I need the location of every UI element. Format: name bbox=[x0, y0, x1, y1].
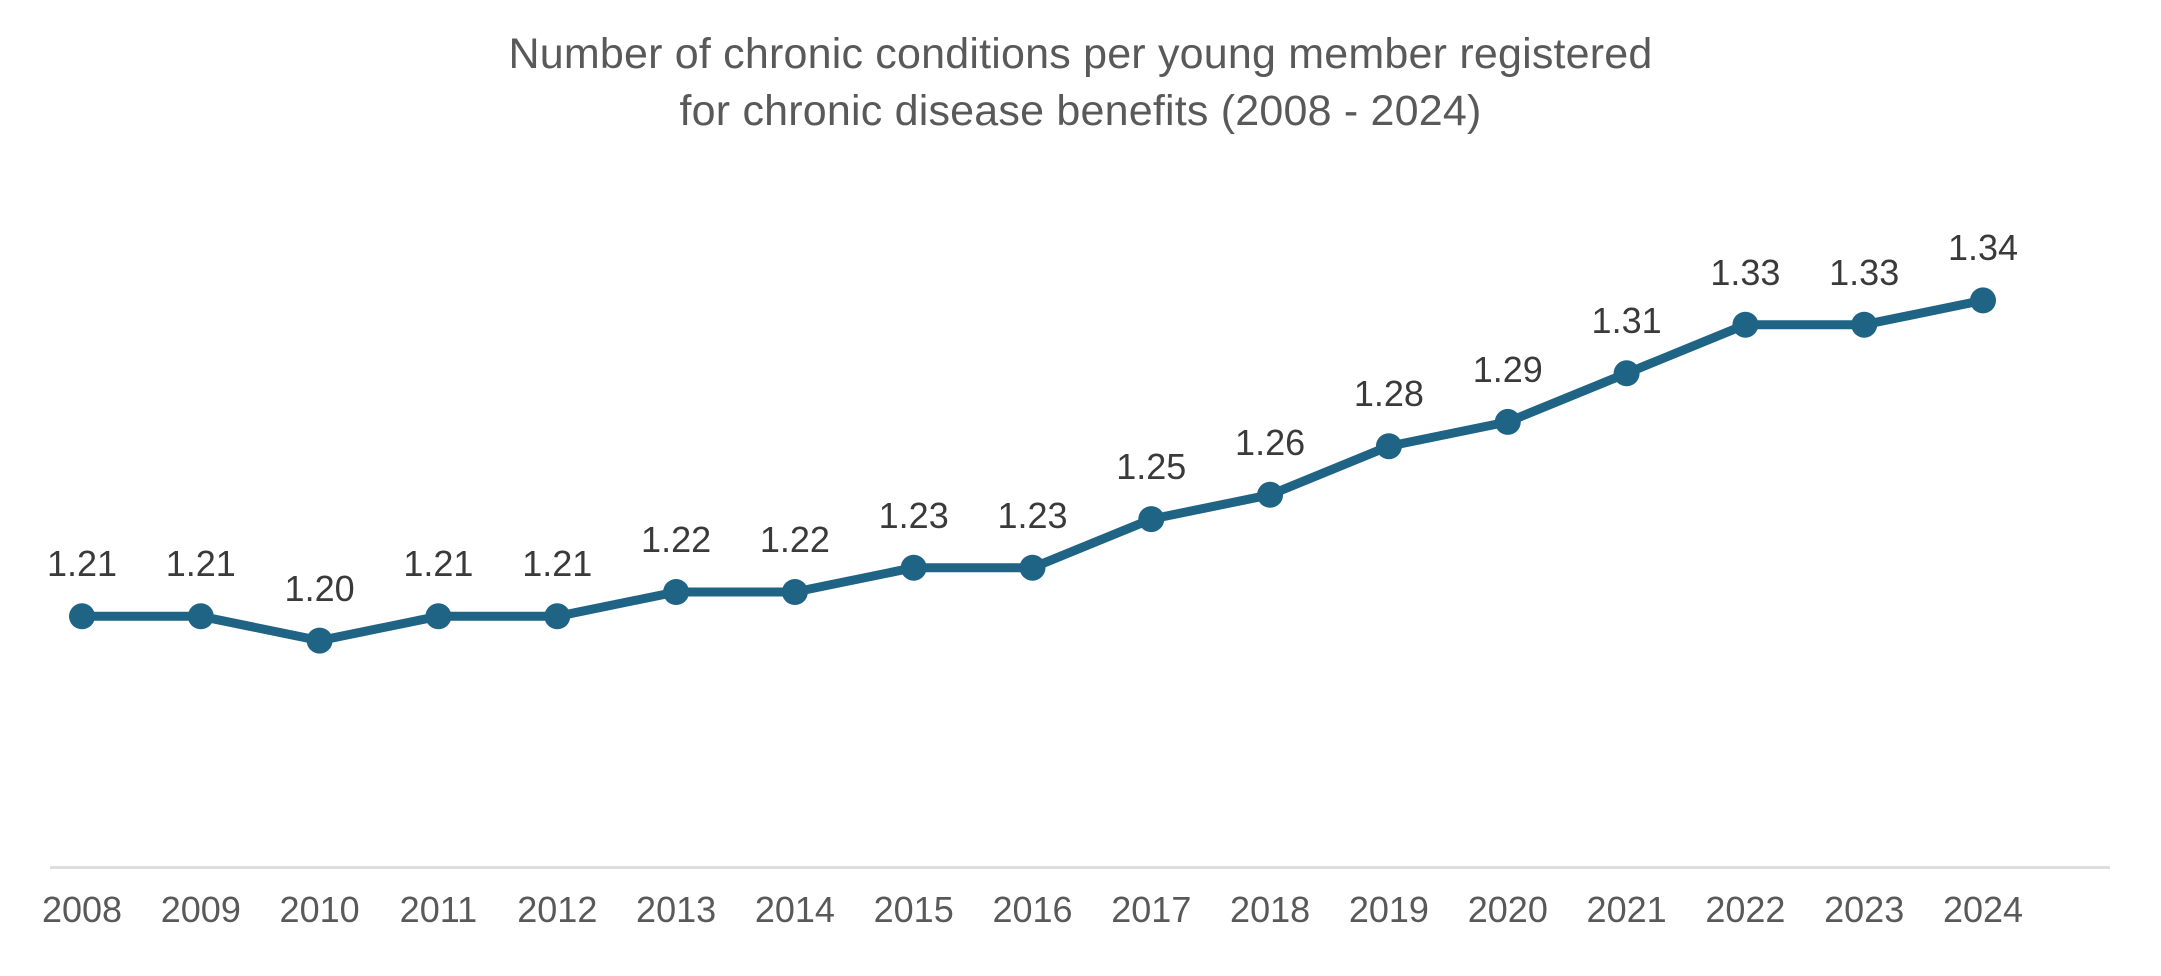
x-tick-label-2024: 2024 bbox=[1943, 888, 2023, 932]
data-point-label: 1.22 bbox=[760, 520, 830, 560]
x-tick-label-2013: 2013 bbox=[636, 888, 716, 932]
x-tick-label-2015: 2015 bbox=[874, 888, 954, 932]
data-point-label: 1.31 bbox=[1592, 301, 1662, 341]
data-point-label: 1.26 bbox=[1235, 423, 1305, 463]
x-tick-label-2023: 2023 bbox=[1824, 888, 1904, 932]
data-point-label: 1.28 bbox=[1354, 374, 1424, 414]
data-point-marker[interactable] bbox=[1376, 433, 1402, 459]
x-tick-label-2008: 2008 bbox=[42, 888, 122, 932]
plot-area: 1.211.211.201.211.211.221.221.231.231.25… bbox=[0, 0, 2161, 976]
x-tick-label-2012: 2012 bbox=[517, 888, 597, 932]
x-tick-label-2009: 2009 bbox=[161, 888, 241, 932]
x-tick-label-2011: 2011 bbox=[400, 888, 477, 932]
data-point-marker[interactable] bbox=[663, 579, 689, 605]
data-point-marker[interactable] bbox=[1614, 360, 1640, 386]
x-tick-label-2017: 2017 bbox=[1111, 888, 1191, 932]
data-point-label: 1.33 bbox=[1710, 253, 1780, 293]
x-tick-label-2010: 2010 bbox=[280, 888, 360, 932]
data-point-marker[interactable] bbox=[544, 603, 570, 629]
data-point-label: 1.21 bbox=[403, 544, 473, 584]
data-point-label: 1.29 bbox=[1473, 350, 1543, 390]
data-point-marker[interactable] bbox=[188, 603, 214, 629]
x-tick-label-2020: 2020 bbox=[1468, 888, 1548, 932]
x-tick-label-2022: 2022 bbox=[1705, 888, 1785, 932]
line-chart-svg bbox=[0, 0, 2161, 976]
data-point-marker[interactable] bbox=[782, 579, 808, 605]
data-point-label: 1.20 bbox=[285, 569, 355, 609]
series-line bbox=[82, 300, 1983, 640]
data-point-label: 1.21 bbox=[166, 544, 236, 584]
data-point-marker[interactable] bbox=[1495, 409, 1521, 435]
data-point-label: 1.34 bbox=[1948, 228, 2018, 268]
x-tick-label-2019: 2019 bbox=[1349, 888, 1429, 932]
data-point-marker[interactable] bbox=[1138, 506, 1164, 532]
data-point-label: 1.22 bbox=[641, 520, 711, 560]
data-point-marker[interactable] bbox=[1732, 312, 1758, 338]
x-tick-label-2018: 2018 bbox=[1230, 888, 1310, 932]
data-point-label: 1.23 bbox=[879, 496, 949, 536]
data-point-marker[interactable] bbox=[307, 628, 333, 654]
data-point-marker[interactable] bbox=[69, 603, 95, 629]
data-point-label: 1.33 bbox=[1829, 253, 1899, 293]
data-point-label: 1.23 bbox=[997, 496, 1067, 536]
data-point-marker[interactable] bbox=[901, 555, 927, 581]
x-tick-label-2014: 2014 bbox=[755, 888, 835, 932]
x-tick-label-2021: 2021 bbox=[1587, 888, 1667, 932]
data-point-marker[interactable] bbox=[1257, 482, 1283, 508]
data-point-marker[interactable] bbox=[1851, 312, 1877, 338]
data-point-label: 1.21 bbox=[47, 544, 117, 584]
chart-container: Number of chronic conditions per young m… bbox=[0, 0, 2161, 976]
data-point-label: 1.25 bbox=[1116, 447, 1186, 487]
x-tick-label-2016: 2016 bbox=[992, 888, 1072, 932]
data-point-marker[interactable] bbox=[1020, 555, 1046, 581]
x-axis-line bbox=[50, 866, 2110, 869]
data-point-label: 1.21 bbox=[522, 544, 592, 584]
data-point-marker[interactable] bbox=[1970, 287, 1996, 313]
data-point-marker[interactable] bbox=[425, 603, 451, 629]
